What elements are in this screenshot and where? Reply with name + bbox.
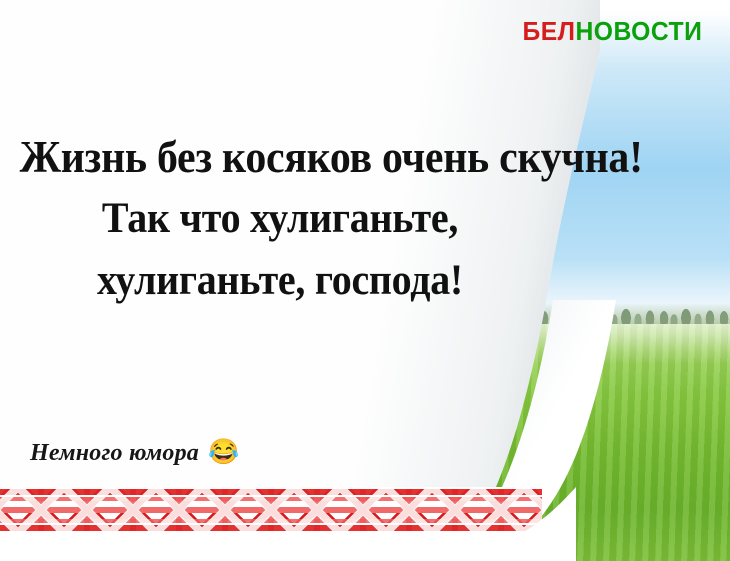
meme-card: БЕЛНОВОСТИ Жизнь без косяков очень скучн… <box>0 0 730 561</box>
quote-line-3: хулиганьте, господа! <box>20 250 541 312</box>
logo-text-novosti: НОВОСТИ <box>575 16 702 46</box>
laughing-emoji-icon: 😂 <box>208 440 239 465</box>
quote-line-2: Так что хулиганьте, <box>20 188 541 250</box>
caption-text: Немного юмора <box>30 441 199 465</box>
ornament-bottom-mask <box>0 533 560 561</box>
caption: Немного юмора 😂 <box>30 440 239 465</box>
logo-text-bel: БЕЛ <box>522 16 575 46</box>
ornament-diamonds <box>0 487 542 533</box>
belnovosti-logo[interactable]: БЕЛНОВОСТИ <box>522 18 702 44</box>
quote-line-1: Жизнь без косяков очень скучна! <box>20 126 541 188</box>
ornament-band <box>0 487 542 533</box>
quote-block: Жизнь без косяков очень скучна! Так что … <box>0 126 560 312</box>
